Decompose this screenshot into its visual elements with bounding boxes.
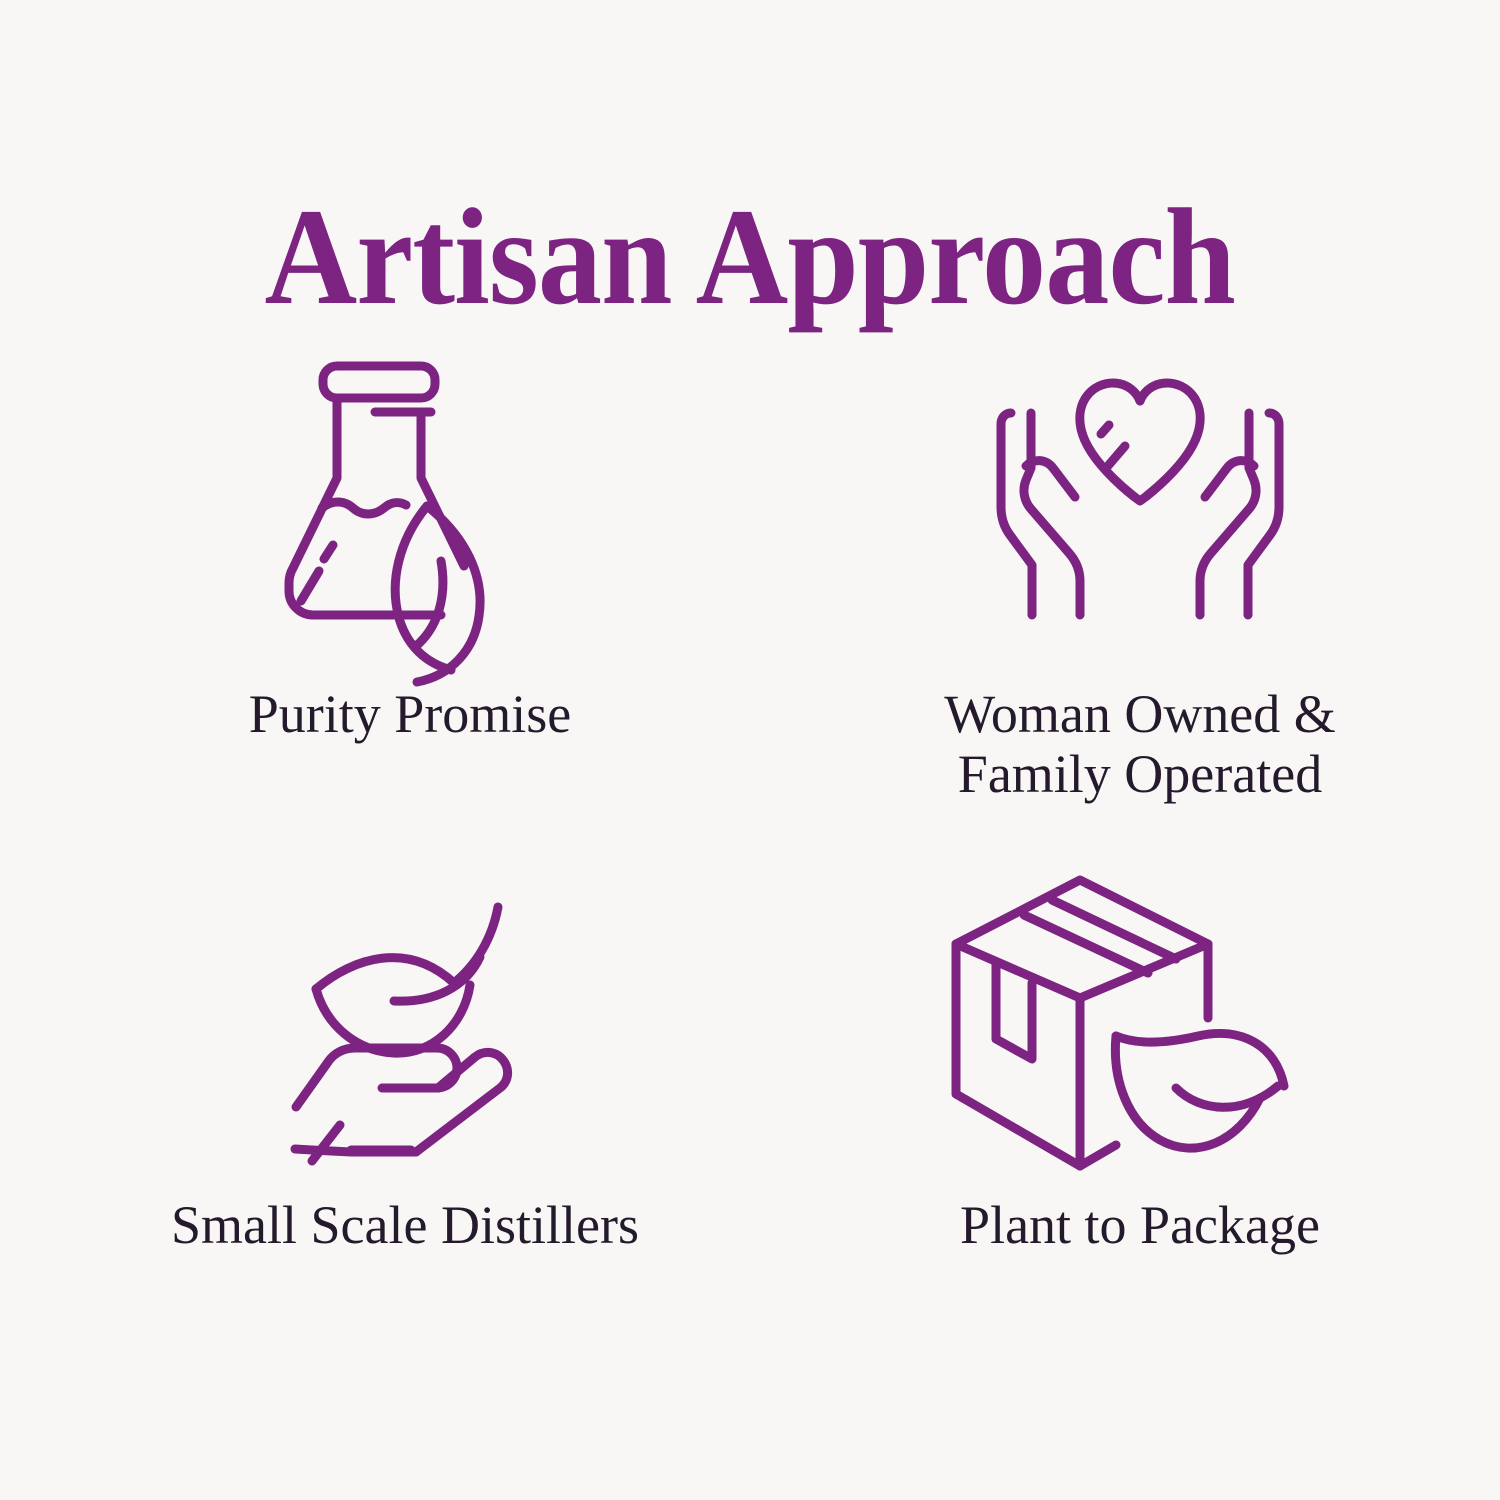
feature-label: Small Scale Distillers [171, 1195, 639, 1255]
leaf-in-hand-icon [255, 875, 555, 1165]
feature-item-small-scale: Small Scale Distillers [0, 875, 750, 1400]
feature-item-purity-promise: Purity Promise [0, 350, 750, 875]
feature-item-plant-to-package: Plant to Package [750, 875, 1500, 1400]
feature-label: Plant to Package [960, 1195, 1320, 1255]
flask-leaf-icon [260, 350, 560, 650]
feature-label: Woman Owned & Family Operated [944, 684, 1336, 805]
page-title: Artisan Approach [265, 188, 1235, 326]
feature-item-woman-owned: Woman Owned & Family Operated [750, 350, 1500, 875]
feature-grid: Purity Promise [0, 350, 1500, 1400]
feature-label: Purity Promise [249, 684, 572, 744]
artisan-approach-panel: Artisan Approach [0, 0, 1500, 1500]
hands-holding-heart-icon [990, 350, 1290, 650]
package-box-leaf-icon [990, 875, 1290, 1165]
